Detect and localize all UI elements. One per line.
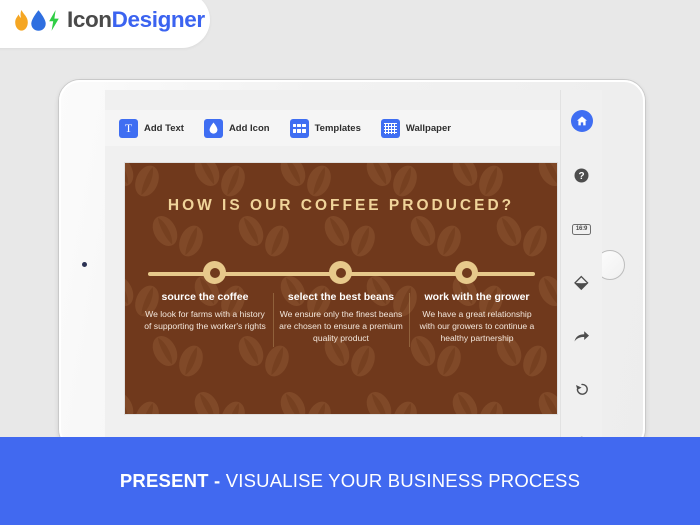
brand-logo: IconDesigner [0,0,210,48]
toolbar-item-wallpaper[interactable]: Wallpaper [381,119,451,138]
toolbar-label-add-icon: Add Icon [229,123,270,134]
home-icon [571,110,593,132]
timeline-node-3[interactable] [455,261,478,284]
timeline-node-2[interactable] [329,261,352,284]
tablet-screen: T Add Text Add Icon Tem [105,90,602,446]
brand-name: IconDesigner [67,7,205,33]
share-icon [573,329,590,344]
step-column[interactable]: source the coffee We look for farms with… [137,291,273,345]
rail-item-help[interactable]: ? [569,162,595,188]
brand-icon-group [14,9,60,32]
droplet-icon [204,119,223,138]
help-icon: ? [574,168,589,183]
toolbar-label-templates: Templates [315,123,361,134]
step-column[interactable]: work with the grower We have a great rel… [409,291,545,345]
slide-canvas[interactable]: HOW IS OUR COFFEE PRODUCED? source the c… [125,163,557,414]
step-body: We ensure only the finest beans are chos… [279,308,403,345]
text-t-icon: T [119,119,138,138]
wallpaper-pattern-icon [381,119,400,138]
rail-item-aspect-ratio[interactable]: 16:9 [569,216,595,242]
banner-text-bold: PRESENT - [120,470,226,491]
rail-item-fill[interactable] [569,270,595,296]
editor-side-rail: ? 16:9 [560,90,602,446]
step-column[interactable]: select the best beans We ensure only the… [273,291,409,345]
step-columns: source the coffee We look for farms with… [137,291,545,345]
grid-icon [290,119,309,138]
rail-item-share[interactable] [569,323,595,349]
camera-icon [82,262,87,267]
step-heading: work with the grower [415,291,539,303]
bottom-banner: PRESENT - VISUALISE YOUR BUSINESS PROCES… [0,437,700,525]
aspect-ratio-icon: 16:9 [572,224,590,235]
toolbar-item-templates[interactable]: Templates [290,119,361,138]
tablet-device: T Add Text Add Icon Tem [58,79,646,451]
droplet-icon [30,9,47,32]
svg-text:?: ? [578,171,584,182]
bolt-icon [48,9,60,32]
brand-name-part2: Designer [112,7,205,32]
editor-toolbar: T Add Text Add Icon Tem [105,110,590,146]
flame-icon [14,9,29,32]
step-body: We have a great relationship with our gr… [415,308,539,345]
tablet-bezel: T Add Text Add Icon Tem [59,80,645,450]
rail-item-undo[interactable] [569,376,595,402]
banner-text: PRESENT - VISUALISE YOUR BUSINESS PROCES… [120,470,580,492]
slide-content: HOW IS OUR COFFEE PRODUCED? source the c… [125,163,557,414]
paint-bucket-icon [573,275,590,292]
brand-name-part1: Icon [67,7,112,32]
step-heading: source the coffee [143,291,267,303]
timeline-node-1[interactable] [203,261,226,284]
step-body: We look for farms with a history of supp… [143,308,267,332]
slide-title[interactable]: HOW IS OUR COFFEE PRODUCED? [125,197,557,215]
toolbar-item-add-icon[interactable]: Add Icon [204,119,270,138]
toolbar-label-wallpaper: Wallpaper [406,123,451,134]
undo-icon [574,381,590,397]
rail-item-home[interactable] [569,108,595,134]
step-heading: select the best beans [279,291,403,303]
banner-text-light: VISUALISE YOUR BUSINESS PROCESS [226,470,580,491]
toolbar-item-add-text[interactable]: T Add Text [119,119,184,138]
toolbar-label-add-text: Add Text [144,123,184,134]
timeline-graphic [125,261,557,285]
